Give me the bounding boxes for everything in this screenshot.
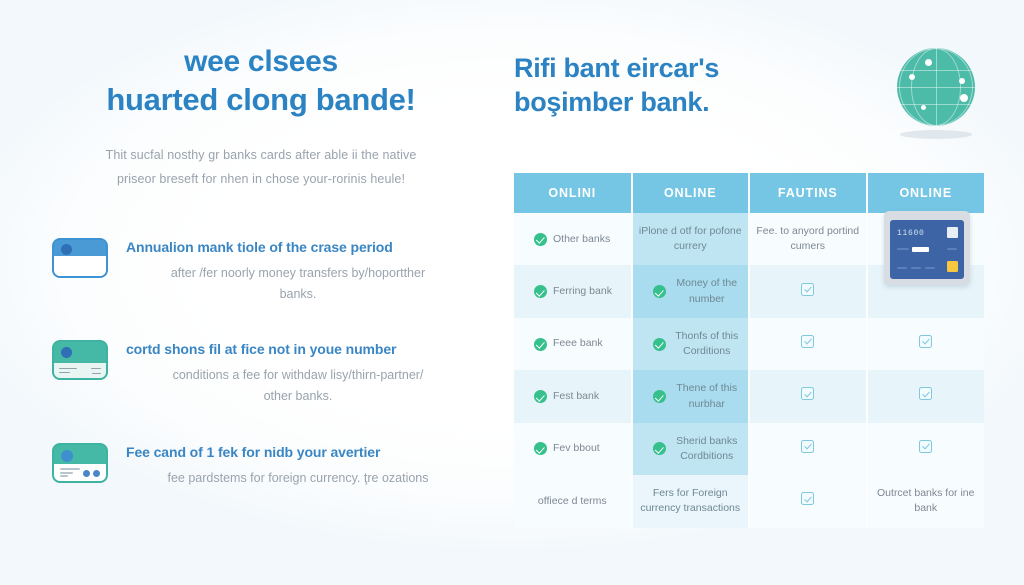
feature-text: Fee cand of 1 fek for nidb your avertier… (126, 441, 470, 489)
right-headline-line-2: boşimber bank. (514, 86, 878, 120)
table-header-row: ONLINI ONLINE FAUTINS ONLINE (514, 173, 984, 213)
list-item: cortd shons fil at fice not in youe numb… (52, 338, 470, 406)
feature-desc-line-2: other banks. (126, 386, 470, 407)
feature-desc-line-1: after /fer noorly money transfers by/hop… (126, 263, 470, 284)
headline-line-1: wee clsees (58, 44, 464, 79)
table-cell: Thene of this nurbhar (632, 370, 750, 422)
cell-text: Fest bank (553, 389, 599, 404)
table-cell: Fers for Foreign currency transactions (632, 475, 750, 527)
table-cell (749, 265, 867, 317)
table-row: Fest bank Thene of this nurbhar (514, 370, 984, 422)
cell-text: Thonfs of this Corditions (672, 329, 743, 359)
table-cell (867, 370, 985, 422)
page-title: wee clsees huarted clong bande! (52, 44, 470, 119)
cell-text: Fee. to anyord portind cumers (756, 225, 859, 252)
card-square-icon (947, 227, 958, 238)
cell-text: Ferring bank (553, 284, 612, 299)
table-cell: Outrcet banks for ine bank (867, 475, 985, 527)
table-cell (749, 475, 867, 527)
check-box-icon[interactable] (919, 440, 932, 453)
table-cell: Money of the number (632, 265, 750, 317)
column-header-3[interactable]: FAUTINS (749, 173, 867, 213)
intro-line-2: priseor breseft for nhen in chose your-r… (56, 167, 466, 191)
check-box-icon[interactable] (801, 492, 814, 505)
globe-shadow (900, 130, 972, 139)
left-column: wee clsees huarted clong bande! Thit suc… (0, 0, 500, 585)
check-box-icon[interactable] (801, 440, 814, 453)
list-item: Fee cand of 1 fek for nidb your avertier… (52, 441, 470, 489)
right-page-title: Rifi bant eircar's boşimber bank. (514, 44, 878, 120)
list-item: Annualion mank tiole of the crase period… (52, 236, 470, 304)
card-white-bar (912, 247, 929, 252)
cell-text: Money of the number (672, 276, 743, 306)
feature-text: Annualion mank tiole of the crase period… (126, 236, 470, 304)
cell-text: Sherid banks Cordbitions (672, 434, 743, 464)
table-cell: Thonfs of this Corditions (632, 318, 750, 370)
table-cell: Feee bank (514, 318, 632, 370)
feature-text: cortd shons fil at fice not in youe numb… (126, 338, 470, 406)
credit-card-teal-dots-icon (52, 443, 108, 483)
check-circle-icon (534, 233, 547, 246)
table-row: offiece d terms Fers for Foreign currenc… (514, 475, 984, 527)
right-header-row: Rifi bant eircar's boşimber bank. (514, 44, 984, 139)
cell-text: Fev bbout (553, 441, 600, 456)
cell-text: Feee bank (553, 336, 603, 351)
table-cell: Sherid banks Cordbitions (632, 423, 750, 475)
table-row: Fev bbout Sherid banks Cordbitions (514, 423, 984, 475)
table-cell (749, 318, 867, 370)
check-box-icon[interactable] (919, 335, 932, 348)
table-row: Feee bank Thonfs of this Corditions (514, 318, 984, 370)
check-circle-icon (534, 442, 547, 455)
check-box-icon[interactable] (801, 335, 814, 348)
check-box-icon[interactable] (801, 283, 814, 296)
table-cell (749, 423, 867, 475)
comparison-table-wrap: ONLINI ONLINE FAUTINS ONLINE Other banks (514, 173, 984, 528)
feature-desc-line-1: fee pardstems for foreign currency. ţre … (126, 468, 470, 489)
check-circle-icon (653, 442, 666, 455)
table-header: ONLINI ONLINE FAUTINS ONLINE (514, 173, 984, 213)
column-header-2[interactable]: ONLINE (632, 173, 750, 213)
headline-line-2: huarted clong bande! (58, 82, 464, 119)
right-column: Rifi bant eircar's boşimber bank. (500, 0, 1024, 585)
feature-title: cortd shons fil at fice not in youe numb… (126, 340, 470, 358)
table-cell (867, 318, 985, 370)
feature-description: fee pardstems for foreign currency. ţre … (126, 468, 470, 489)
check-circle-icon (534, 390, 547, 403)
check-circle-icon (653, 390, 666, 403)
table-cell: Fee. to anyord portind cumers (749, 213, 867, 265)
cell-text: Fers for Foreign currency transactions (640, 487, 740, 514)
intro-paragraph: Thit sucfal nosthy gr banks cards after … (52, 143, 470, 192)
table-cell: Other banks (514, 213, 632, 265)
check-circle-icon (534, 338, 547, 351)
table-cell: Ferring bank (514, 265, 632, 317)
credit-card-teal-icon (52, 340, 108, 380)
right-headline-line-1: Rifi bant eircar's (514, 52, 878, 86)
feature-title: Fee cand of 1 fek for nidb your avertier (126, 443, 470, 461)
cell-text: Outrcet banks for ine bank (877, 487, 974, 514)
feature-desc-line-1: conditions a fee for withdaw lisy/thirn-… (126, 365, 470, 386)
feature-desc-line-2: banks. (126, 284, 470, 305)
check-box-icon[interactable] (919, 387, 932, 400)
infographic-page: wee clsees huarted clong bande! Thit suc… (0, 0, 1024, 585)
feature-description: conditions a fee for withdaw lisy/thirn-… (126, 365, 470, 406)
check-box-icon[interactable] (801, 387, 814, 400)
cell-text: offiece d terms (538, 495, 607, 507)
credit-card-blue-icon (52, 238, 108, 278)
globe-illustration (888, 44, 984, 139)
check-circle-icon (534, 285, 547, 298)
check-circle-icon (653, 338, 666, 351)
cell-text: Other banks (553, 232, 610, 247)
table-cell: Fev bbout (514, 423, 632, 475)
table-cell (867, 423, 985, 475)
table-cell: Fest bank (514, 370, 632, 422)
globe-icon (897, 48, 975, 126)
column-header-4[interactable]: ONLINE (867, 173, 985, 213)
intro-line-1: Thit sucfal nosthy gr banks cards after … (56, 143, 466, 167)
card-number: 11600 (897, 229, 925, 238)
table-cell: iPlone d otf for pofone currery (632, 213, 750, 265)
pos-terminal-icon: 11600 (884, 211, 970, 285)
column-header-1[interactable]: ONLINI (514, 173, 632, 213)
feature-description: after /fer noorly money transfers by/hop… (126, 263, 470, 304)
card-chip-icon (947, 261, 958, 272)
bank-card-graphic: 11600 (890, 220, 964, 279)
feature-title: Annualion mank tiole of the crase period (126, 238, 470, 256)
table-cell (749, 370, 867, 422)
table-cell: offiece d terms (514, 475, 632, 527)
check-circle-icon (653, 285, 666, 298)
cell-text: iPlone d otf for pofone currery (639, 225, 742, 252)
feature-list: Annualion mank tiole of the crase period… (52, 236, 470, 489)
cell-text: Thene of this nurbhar (672, 381, 743, 411)
